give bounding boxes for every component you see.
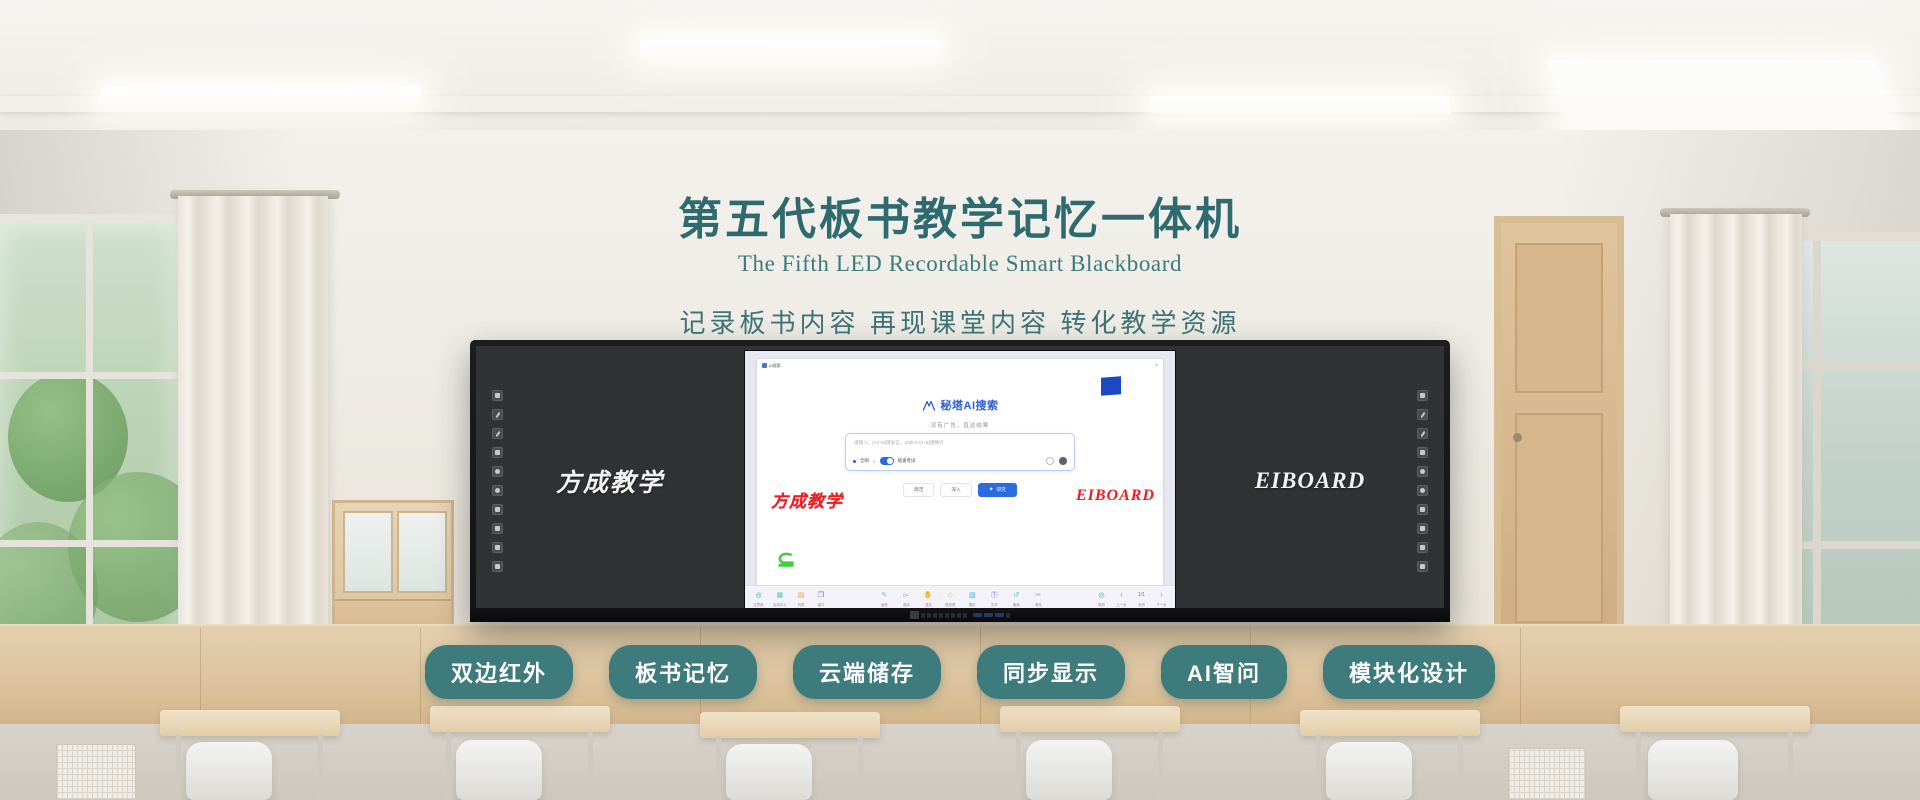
headline-block: 第五代板书教学记忆一体机 The Fifth LED Recordable Sm… — [0, 196, 1920, 340]
browser-titlebar: AI搜索 × — [757, 359, 1163, 372]
brightness-down-icon[interactable] — [1417, 485, 1428, 496]
pen-icon[interactable] — [492, 409, 503, 420]
icon-rail-left[interactable] — [492, 390, 503, 572]
toolbar-item-label: 下一页 — [1156, 602, 1166, 607]
toolbar-item-label: 录制 — [1098, 602, 1105, 607]
pen-icon[interactable] — [1417, 409, 1428, 420]
feature-pill-dual-infrared[interactable]: 双边红外 — [425, 645, 573, 699]
toolbar-group-center: ✎ 画笔 ▻ 选择 ✋ 漫游 ◇ 橡皮擦 — [871, 590, 1052, 607]
search-mode-label[interactable]: 全网 — [860, 458, 869, 464]
student-chair — [186, 742, 272, 800]
student-chair — [456, 740, 542, 800]
stop-icon[interactable] — [492, 504, 503, 515]
toolbar-item[interactable]: › 下一页 — [1156, 590, 1167, 607]
storage-basket — [1508, 748, 1586, 800]
research-button-label: 研究 — [997, 487, 1006, 493]
toolbar-item[interactable]: ✂ 清除 — [1033, 590, 1044, 607]
feature-pill-board-memory[interactable]: 板书记忆 — [609, 645, 757, 699]
toolbar-group-left: ◎ 主界面 ▦ 应用中心 ▤ 列表 ❐ 窗口 — [745, 590, 835, 607]
toolbar-item-label: 图形 — [969, 602, 976, 607]
board-wing-right[interactable]: EIBOARD — [1176, 346, 1444, 616]
board-bottom-bezel — [470, 608, 1450, 622]
board-inner-face: 方成教学 AI搜索 × 秘塔AI搜 — [476, 346, 1444, 616]
list-icon[interactable]: ▤ — [796, 590, 807, 601]
deep-button[interactable]: 深入 — [940, 483, 971, 497]
toolbar-item-label: 文本 — [991, 602, 998, 607]
brightness-up-icon[interactable] — [1417, 466, 1428, 477]
metaso-brand-name: 秘塔AI搜索 — [941, 397, 999, 413]
toolbar-item-label: 列表 — [798, 602, 805, 607]
page-title-en: The Fifth LED Recordable Smart Blackboar… — [0, 251, 1920, 277]
search-input[interactable]: 请输入，[Alt+B]键发言，Shift+[Alt+B]键换行 — [854, 440, 1066, 446]
power-icon[interactable] — [1417, 523, 1428, 534]
green-undo-annotation — [775, 551, 797, 569]
toolbar-item-label: 撤销 — [1013, 602, 1020, 607]
browser-window[interactable]: AI搜索 × 秘塔AI搜索 没有广告，直达结果 请输入， — [757, 359, 1163, 585]
toolbar-item-label: 漫游 — [925, 602, 932, 607]
metaso-brand: 秘塔AI搜索 没有广告，直达结果 — [757, 397, 1163, 429]
board-display-screen[interactable]: AI搜索 × 秘塔AI搜索 没有广告，直达结果 请输入， — [744, 350, 1176, 612]
page-title-cn: 第五代板书教学记忆一体机 — [0, 196, 1920, 244]
board-right-brand-text: EIBOARD — [1255, 468, 1366, 494]
icon-rail-right[interactable] — [1417, 390, 1428, 572]
settings-icon[interactable] — [1417, 542, 1428, 553]
toolbar-item-label: 页码 — [1138, 602, 1145, 607]
exam-mode-toggle[interactable] — [880, 457, 894, 465]
toolbar-item-label: 窗口 — [818, 602, 825, 607]
eraser-icon[interactable] — [1417, 447, 1428, 458]
screen-icon[interactable] — [1417, 390, 1428, 401]
text-icon[interactable]: Ⓣ — [989, 590, 1000, 601]
storage-basket — [56, 744, 136, 800]
power-icon[interactable] — [492, 523, 503, 534]
metaso-tagline: 没有广告，直达结果 — [757, 421, 1163, 429]
pen-icon[interactable]: ✎ — [879, 590, 890, 601]
ceiling-light — [1148, 96, 1451, 114]
feature-pill-row: 双边红外 板书记忆 云端储存 同步显示 AI智问 模块化设计 — [0, 645, 1920, 699]
screen-icon[interactable] — [492, 390, 503, 401]
page-subtitle: 记录板书内容 再现课堂内容 转化教学资源 — [0, 303, 1920, 340]
toolbar-item[interactable]: ↺ 撤销 — [1011, 590, 1022, 607]
browser-tab[interactable]: AI搜索 — [762, 363, 781, 369]
hand-icon[interactable]: ✋ — [923, 590, 934, 601]
toolbar-item-label: 画笔 — [881, 602, 888, 607]
brightness-up-icon[interactable] — [492, 466, 503, 477]
ceiling-light — [639, 40, 941, 56]
toolbar-item[interactable]: ▻ 选择 — [901, 590, 912, 607]
undo-icon[interactable]: ↺ — [1011, 590, 1022, 601]
search-options-row: 全网 ∨ 极速考试 — [853, 457, 1067, 465]
feature-pill-cloud-storage[interactable]: 云端储存 — [793, 645, 941, 699]
toolbar-item[interactable]: ✋ 漫游 — [923, 590, 934, 607]
mode-dot-icon — [853, 460, 856, 463]
toolbar-item-label: 橡皮擦 — [945, 602, 955, 607]
eraser-icon[interactable] — [492, 447, 503, 458]
logo-badge-icon — [910, 611, 919, 619]
metaso-logo-icon — [922, 400, 936, 411]
toolbar-item-label: 主界面 — [753, 602, 763, 607]
toolbar-item[interactable]: ◎ 录制 — [1096, 590, 1107, 607]
prev-icon[interactable]: ‹ — [1116, 590, 1127, 601]
toolbar-item[interactable]: ◎ 主界面 — [753, 590, 764, 607]
toolbar-item-label: 选择 — [903, 602, 910, 607]
toolbar-item[interactable]: ◇ 橡皮擦 — [945, 590, 956, 607]
select-icon[interactable]: ▻ — [901, 590, 912, 601]
feature-pill-sync-display[interactable]: 同步显示 — [977, 645, 1125, 699]
record-icon[interactable]: ◎ — [753, 590, 764, 601]
page-icon[interactable]: 1/1 — [1136, 590, 1147, 601]
port-cluster-2 — [973, 613, 1010, 618]
search-box[interactable]: 请输入，[Alt+B]键发言，Shift+[Alt+B]键换行 全网 ∨ 极速考… — [845, 433, 1075, 471]
chevron-down-icon[interactable]: ∨ — [873, 459, 876, 464]
student-chair — [1326, 742, 1412, 800]
window-icon[interactable]: ❐ — [816, 590, 827, 601]
student-chair — [726, 744, 812, 800]
concise-button[interactable]: 简洁 — [903, 483, 934, 497]
sparkle-icon: ✦ — [989, 487, 994, 493]
pencil-icon[interactable] — [1417, 428, 1428, 439]
settings-icon[interactable] — [492, 542, 503, 553]
board-left-brand-text: 方成教学 — [556, 463, 664, 499]
port-cluster — [910, 611, 967, 619]
favicon-icon — [762, 363, 767, 368]
blue-square-annotation — [1101, 376, 1121, 395]
toolbar-group-right: ◎ 录制 ‹ 上一页 1/1 页码 › 下一页 — [1088, 590, 1175, 607]
student-chair — [1026, 740, 1112, 800]
more-icon[interactable] — [1059, 457, 1067, 465]
clear-icon[interactable]: ✂ — [1033, 590, 1044, 601]
exam-mode-label: 极速考试 — [898, 458, 916, 464]
toolbar-item-label: 上一页 — [1116, 602, 1126, 607]
toolbar-item-label: 应用中心 — [773, 602, 787, 607]
toolbar-item[interactable]: ▦ 应用中心 — [773, 590, 787, 607]
toolbar-item-label: 清除 — [1035, 602, 1042, 607]
feature-pill-modular[interactable]: 模块化设计 — [1323, 645, 1495, 699]
student-chair — [1648, 740, 1738, 800]
record-icon[interactable]: ◎ — [1096, 590, 1107, 601]
capture-icon[interactable] — [1417, 561, 1428, 572]
toolbar-item[interactable]: Ⓣ 文本 — [989, 590, 1000, 607]
toolbar-item[interactable]: ❐ 窗口 — [816, 590, 827, 607]
apps-icon[interactable]: ▦ — [774, 590, 785, 601]
next-icon[interactable]: › — [1156, 590, 1167, 601]
pencil-icon[interactable] — [492, 428, 503, 439]
camera-icon[interactable] — [1046, 457, 1054, 465]
toolbar-item[interactable]: ▤ 列表 — [796, 590, 807, 607]
board-wing-left[interactable]: 方成教学 — [476, 346, 744, 616]
brightness-down-icon[interactable] — [492, 485, 503, 496]
ceiling-light — [98, 86, 423, 106]
browser-tab-label: AI搜索 — [769, 363, 781, 369]
eraser-icon[interactable]: ◇ — [945, 590, 956, 601]
toolbar-item[interactable]: ▧ 图形 — [967, 590, 978, 607]
feature-pill-ai-ask[interactable]: AI智问 — [1161, 645, 1287, 699]
stop-icon[interactable] — [1417, 504, 1428, 515]
toolbar-item[interactable]: ‹ 上一页 — [1116, 590, 1127, 607]
capture-icon[interactable] — [492, 561, 503, 572]
toolbar-item[interactable]: 1/1 页码 — [1136, 590, 1147, 607]
close-icon[interactable]: × — [1155, 363, 1158, 369]
toolbar-item[interactable]: ✎ 画笔 — [879, 590, 890, 607]
research-button[interactable]: ✦ 研究 — [978, 483, 1017, 497]
shape-icon[interactable]: ▧ — [967, 590, 978, 601]
smart-blackboard[interactable]: 方成教学 AI搜索 × 秘塔AI搜 — [470, 340, 1450, 622]
search-action-buttons: 简洁 深入 ✦ 研究 — [757, 483, 1163, 497]
